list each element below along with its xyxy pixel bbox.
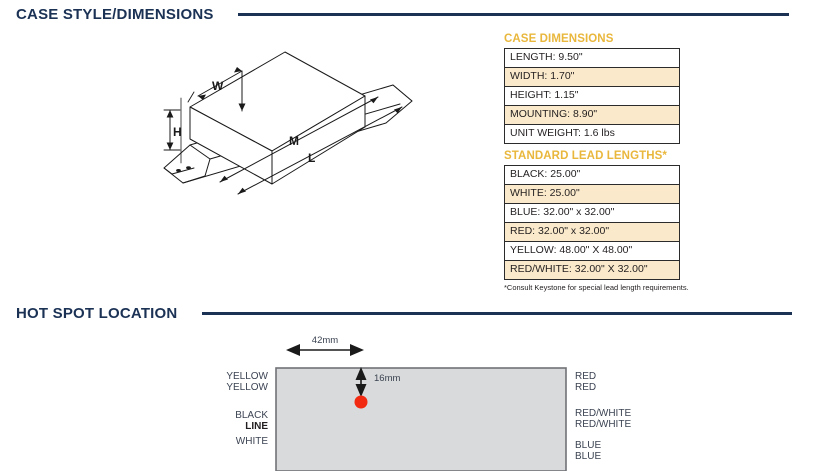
lead-length-yellow: YELLOW: 48.00" X 48.00" <box>505 242 680 261</box>
lead-length-red-white: RED/WHITE: 32.00" X 32.00" <box>505 261 680 280</box>
lead-length-blue: BLUE: 32.00" x 32.00" <box>505 204 680 223</box>
svg-text:H: H <box>173 125 182 139</box>
svg-text:M: M <box>289 134 299 148</box>
lead-length-black: BLACK: 25.00" <box>505 166 680 185</box>
page-title: CASE STYLE/DIMENSIONS <box>0 6 214 23</box>
case-dimension-length: LENGTH: 9.50" <box>505 49 680 68</box>
lead-lengths-footnote: *Consult Keystone for special lead lengt… <box>504 283 680 293</box>
header-rule <box>238 13 789 16</box>
case-isometric-drawing: W H M L <box>150 38 420 198</box>
table-row: LENGTH: 9.50" <box>505 49 680 68</box>
table-row: WIDTH: 1.70" <box>505 68 680 87</box>
lead-lengths-block: STANDARD LEAD LENGTHS* BLACK: 25.00" WHI… <box>504 150 680 293</box>
lead-label-left-white: WHITE <box>150 436 268 448</box>
table-row: RED: 32.00" x 32.00" <box>505 223 680 242</box>
lead-label-right-red-white-1: RED/WHITE <box>575 408 631 420</box>
header-rule <box>202 312 792 315</box>
case-dimensions-table: LENGTH: 9.50" WIDTH: 1.70" HEIGHT: 1.15"… <box>504 48 680 144</box>
case-dimension-unit-weight: UNIT WEIGHT: 1.6 lbs <box>505 125 680 144</box>
lead-label-left-black: BLACK <box>150 410 268 422</box>
lead-label-right-blue-2: BLUE <box>575 451 601 463</box>
lead-label-right-blue-1: BLUE <box>575 440 601 452</box>
case-dimensions-title: CASE DIMENSIONS <box>504 33 680 45</box>
lead-label-right-red-white-2: RED/WHITE <box>575 419 631 431</box>
table-row: WHITE: 25.00" <box>505 185 680 204</box>
section-header-hot-spot: HOT SPOT LOCATION <box>0 305 836 322</box>
table-row: BLUE: 32.00" x 32.00" <box>505 204 680 223</box>
table-row: YELLOW: 48.00" X 48.00" <box>505 242 680 261</box>
lead-label-left-yellow-2: YELLOW <box>150 382 268 394</box>
lead-label-right-red-2: RED <box>575 382 596 394</box>
lead-lengths-title: STANDARD LEAD LENGTHS* <box>504 150 680 162</box>
lead-length-white: WHITE: 25.00" <box>505 185 680 204</box>
table-row: BLACK: 25.00" <box>505 166 680 185</box>
table-row: MOUNTING: 8.90" <box>505 106 680 125</box>
lead-label-right-red-1: RED <box>575 371 596 383</box>
lead-length-red: RED: 32.00" x 32.00" <box>505 223 680 242</box>
lead-lengths-table: BLACK: 25.00" WHITE: 25.00" BLUE: 32.00"… <box>504 165 680 280</box>
lead-label-left-line: LINE <box>150 421 268 433</box>
svg-text:16mm: 16mm <box>374 373 400 384</box>
case-dimension-height: HEIGHT: 1.15" <box>505 87 680 106</box>
table-row: RED/WHITE: 32.00" X 32.00" <box>505 261 680 280</box>
svg-text:L: L <box>308 151 315 165</box>
case-dimension-mounting: MOUNTING: 8.90" <box>505 106 680 125</box>
svg-text:42mm: 42mm <box>312 335 338 346</box>
hot-spot-diagram: 42mm 16mm YELLOW YELLOW BLACK LINE WHITE… <box>0 330 836 471</box>
svg-text:W: W <box>212 79 224 93</box>
case-dimension-width: WIDTH: 1.70" <box>505 68 680 87</box>
table-row: UNIT WEIGHT: 1.6 lbs <box>505 125 680 144</box>
hot-spot-title: HOT SPOT LOCATION <box>0 305 177 322</box>
case-dimensions-block: CASE DIMENSIONS LENGTH: 9.50" WIDTH: 1.7… <box>504 33 680 144</box>
table-row: HEIGHT: 1.15" <box>505 87 680 106</box>
lead-label-left-yellow-1: YELLOW <box>150 371 268 383</box>
section-header-case-style: CASE STYLE/DIMENSIONS <box>0 6 836 23</box>
